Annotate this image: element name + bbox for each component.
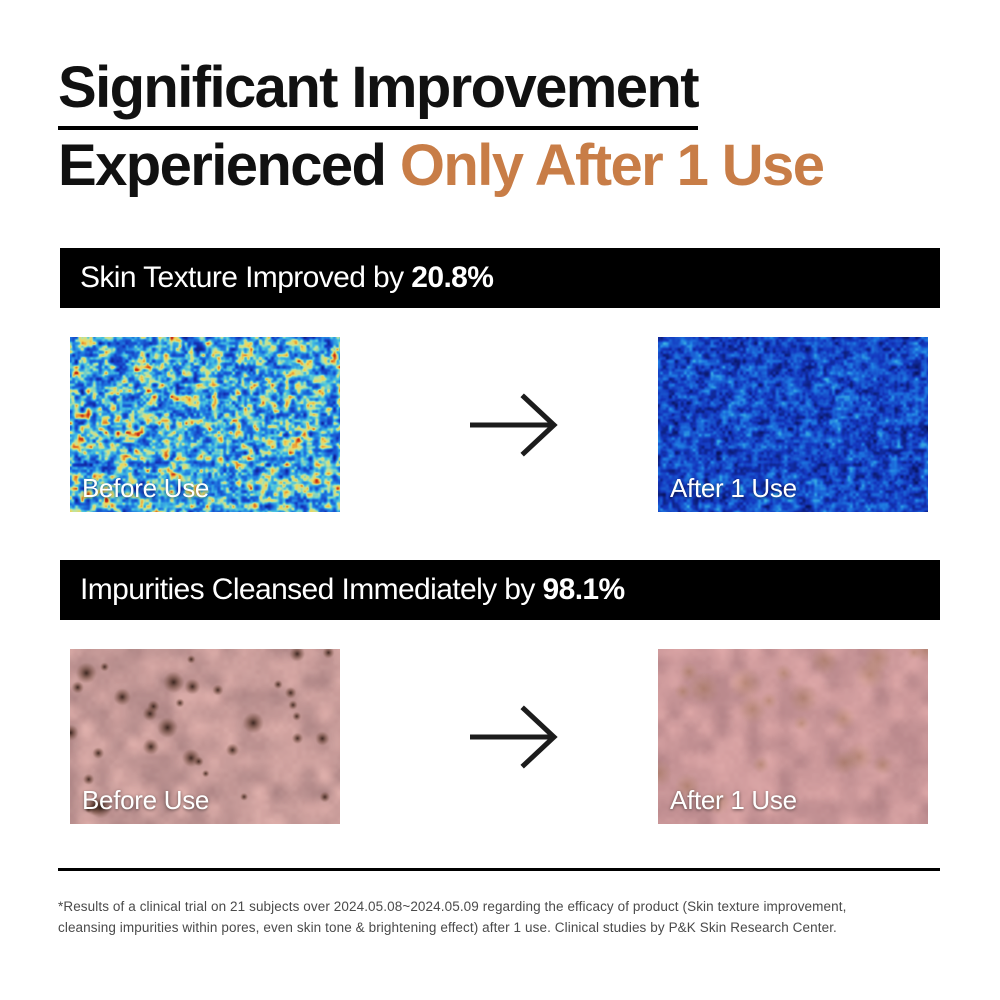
section-banner-text: Skin Texture Improved by 20.8%: [80, 261, 493, 295]
headline-line-2-black: Experienced: [58, 133, 400, 198]
result-section-impurities: Impurities Cleansed Immediately by 98.1%…: [60, 560, 940, 824]
arrow-right-icon: [466, 697, 578, 777]
after-image-label: After 1 Use: [670, 473, 797, 504]
section-banner: Impurities Cleansed Immediately by 98.1%: [60, 560, 940, 620]
headline-line-1-wrap: Significant Improvement: [58, 52, 958, 130]
before-after-comparison: Before Use After 1 Use: [60, 337, 940, 512]
footnote-text: *Results of a clinical trial on 21 subje…: [58, 896, 908, 938]
before-image-label: Before Use: [82, 473, 209, 504]
after-image-label: After 1 Use: [670, 785, 797, 816]
banner-percentage: 98.1%: [543, 573, 625, 606]
page-title: Significant Improvement Experienced Only…: [58, 52, 958, 202]
after-image: After 1 Use: [658, 649, 928, 824]
after-image: After 1 Use: [658, 337, 928, 512]
footer-divider: [58, 868, 940, 871]
before-after-comparison: Before Use After 1 Use: [60, 649, 940, 824]
section-banner: Skin Texture Improved by 20.8%: [60, 248, 940, 308]
before-image: Before Use: [70, 649, 340, 824]
before-image: Before Use: [70, 337, 340, 512]
banner-prefix: Impurities Cleansed Immediately by: [80, 573, 543, 606]
banner-prefix: Skin Texture Improved by: [80, 261, 411, 294]
section-banner-text: Impurities Cleansed Immediately by 98.1%: [80, 573, 625, 607]
banner-percentage: 20.8%: [411, 261, 493, 294]
headline-line-2-accent: Only After 1 Use: [400, 133, 824, 198]
result-section-skin-texture: Skin Texture Improved by 20.8% Before Us…: [60, 248, 940, 512]
headline-line-1: Significant Improvement: [58, 52, 698, 130]
headline-line-2: Experienced Only After 1 Use: [58, 130, 958, 202]
before-image-label: Before Use: [82, 785, 209, 816]
arrow-right-icon: [466, 385, 578, 465]
